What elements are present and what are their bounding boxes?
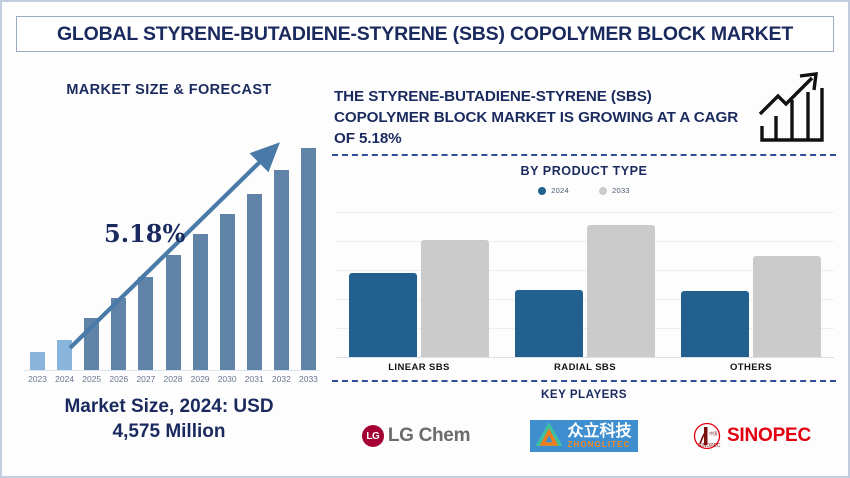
by-product-type-heading: BY PRODUCT TYPE [332,164,836,178]
year-label: 2032 [267,374,295,384]
lg-chem-mark-text: LG [362,425,384,447]
market-size-value-line2: 4,575 Million [16,419,322,444]
divider-bottom [332,380,836,382]
zhonglitec-name-cn: 众立科技 [567,424,631,440]
forecast-bar [193,234,208,371]
category-axis-labels: LINEAR SBSRADIAL SBSOTHERS [336,362,834,378]
product-type-bar [681,291,749,357]
lg-chem-name: LG Chem [388,425,470,447]
market-size-bar-chart [24,136,322,370]
year-label: 2025 [78,374,106,384]
forecast-bar [247,194,262,370]
forecast-bar [84,318,99,370]
year-label: 2026 [105,374,133,384]
year-label: 2031 [240,374,268,384]
market-size-value: Market Size, 2024: USD 4,575 Million [16,394,322,444]
product-type-bar [421,240,489,357]
category-label: RADIAL SBS [505,362,665,373]
sinopec-logo: 中国 SINOPEC [693,422,721,450]
gridline [336,241,834,242]
forecast-bar [111,298,126,370]
key-players-logos: LG LG Chem 众立科技 ZHONGLITEC [332,408,836,464]
sinopec-name: SINOPEC [727,425,811,447]
zhonglitec-logo [536,423,562,449]
market-growth-headline: THE STYRENE-BUTADIENE-STYRENE (SBS) COPO… [334,86,744,149]
forecast-bar [220,214,235,370]
infographic-page: GLOBAL STYRENE-BUTADIENE-STYRENE (SBS) C… [0,0,850,478]
legend-swatch-icon [599,187,607,195]
chart-baseline [24,370,320,371]
zhonglitec-name-en: ZHONGLITEC [567,441,630,449]
cagr-annotation: 5.18% [104,219,185,248]
legend-label: 2033 [612,186,630,195]
market-size-value-line1: Market Size, 2024: USD [16,394,322,419]
logo-zhonglitec: 众立科技 ZHONGLITEC [500,408,668,464]
forecast-bar [166,255,181,370]
market-size-heading: MARKET SIZE & FORECAST [16,82,322,98]
product-type-bar-chart [336,206,834,358]
year-label: 2033 [294,374,322,384]
year-label: 2030 [213,374,241,384]
market-size-forecast-panel: MARKET SIZE & FORECAST 5.18% 20232024202… [16,64,322,464]
chart-axis [336,357,834,358]
year-label: 2029 [186,374,214,384]
forecast-bar [301,148,316,370]
legend-swatch-icon [538,187,546,195]
year-label: 2023 [24,374,52,384]
product-type-bar [349,273,417,357]
year-axis-labels: 2023202420252026202720282029203020312032… [24,374,322,390]
legend-item[interactable]: 2024 [538,186,569,195]
forecast-bar [274,170,289,370]
year-label: 2027 [132,374,160,384]
product-type-bar [587,225,655,357]
logo-lg-chem: LG LG Chem [332,408,500,464]
year-label: 2024 [51,374,79,384]
product-type-bar [753,256,821,357]
page-title-bar: GLOBAL STYRENE-BUTADIENE-STYRENE (SBS) C… [16,16,834,52]
gridline [336,212,834,213]
divider-top [332,154,836,156]
lg-chem-logo: LG [362,425,384,447]
category-label: OTHERS [671,362,831,373]
forecast-bar [57,340,72,370]
forecast-bar [30,352,45,370]
category-label: LINEAR SBS [339,362,499,373]
page-title: GLOBAL STYRENE-BUTADIENE-STYRENE (SBS) C… [57,23,793,46]
svg-text:SINOPEC: SINOPEC [698,443,721,449]
svg-text:中国: 中国 [709,430,717,437]
bar-chart-growth-icon [756,68,836,146]
right-panel: THE STYRENE-BUTADIENE-STYRENE (SBS) COPO… [332,64,838,468]
key-players-heading: KEY PLAYERS [332,388,836,401]
chart-legend: 20242033 [332,186,836,195]
product-type-bar [515,290,583,357]
legend-label: 2024 [551,186,569,195]
logo-sinopec: 中国 SINOPEC SINOPEC [668,408,836,464]
legend-item[interactable]: 2033 [599,186,630,195]
year-label: 2028 [159,374,187,384]
forecast-bar [138,277,153,370]
